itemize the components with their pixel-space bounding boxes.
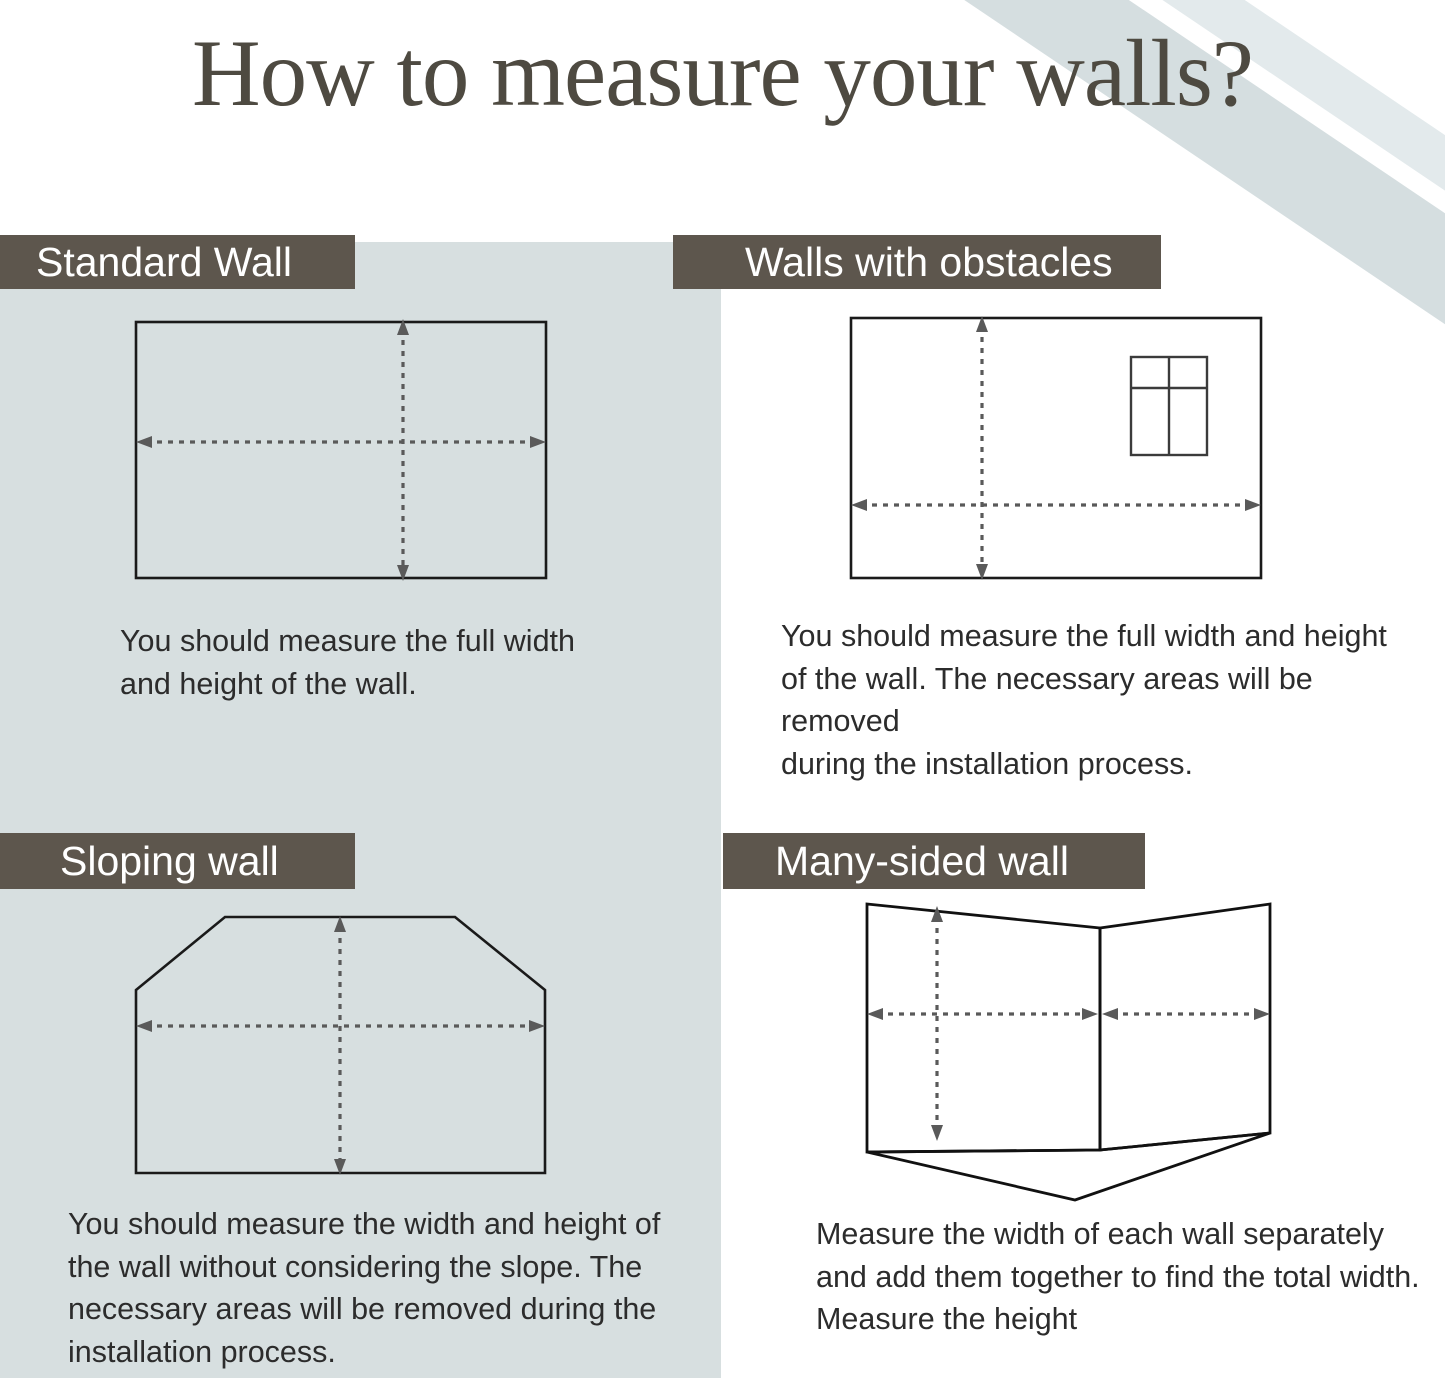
sloping-wall-diagram bbox=[110, 895, 590, 1200]
arrow-left-icon bbox=[1102, 1008, 1118, 1020]
caption-standard-wall: You should measure the full width and he… bbox=[120, 620, 660, 705]
caption-sloping-wall: You should measure the width and height … bbox=[68, 1203, 668, 1374]
section-heading-label: Many-sided wall bbox=[775, 841, 1069, 882]
section-heading-label: Sloping wall bbox=[60, 841, 279, 882]
many-sided-wall-diagram bbox=[850, 885, 1290, 1215]
caption-many-sided-wall: Measure the width of each wall separatel… bbox=[816, 1213, 1426, 1341]
infographic-canvas: How to measure your walls? Standard Wall… bbox=[0, 0, 1445, 1386]
page-title: How to measure your walls? bbox=[0, 26, 1445, 121]
arrow-up-icon bbox=[931, 906, 943, 922]
wall-rectangle bbox=[136, 322, 546, 578]
arrow-left-icon bbox=[867, 1008, 883, 1020]
section-heading-standard-wall: Standard Wall bbox=[0, 235, 355, 289]
arrow-right-icon bbox=[1254, 1008, 1270, 1020]
section-heading-many-sided-wall: Many-sided wall bbox=[723, 833, 1145, 889]
floor-face bbox=[867, 1133, 1270, 1200]
wall-sloped-shape bbox=[136, 917, 545, 1173]
section-heading-label: Walls with obstacles bbox=[745, 242, 1113, 283]
section-heading-walls-with-obstacles: Walls with obstacles bbox=[673, 235, 1161, 289]
section-heading-sloping-wall: Sloping wall bbox=[0, 833, 355, 889]
right-wall-face bbox=[1100, 904, 1270, 1150]
arrow-right-icon bbox=[1082, 1008, 1098, 1020]
standard-wall-diagram bbox=[120, 305, 580, 605]
arrow-down-icon bbox=[931, 1125, 943, 1141]
caption-walls-with-obstacles: You should measure the full width and he… bbox=[781, 615, 1421, 786]
left-wall-face bbox=[867, 904, 1100, 1152]
walls-with-obstacles-diagram bbox=[835, 300, 1295, 600]
section-heading-label: Standard Wall bbox=[36, 242, 292, 283]
